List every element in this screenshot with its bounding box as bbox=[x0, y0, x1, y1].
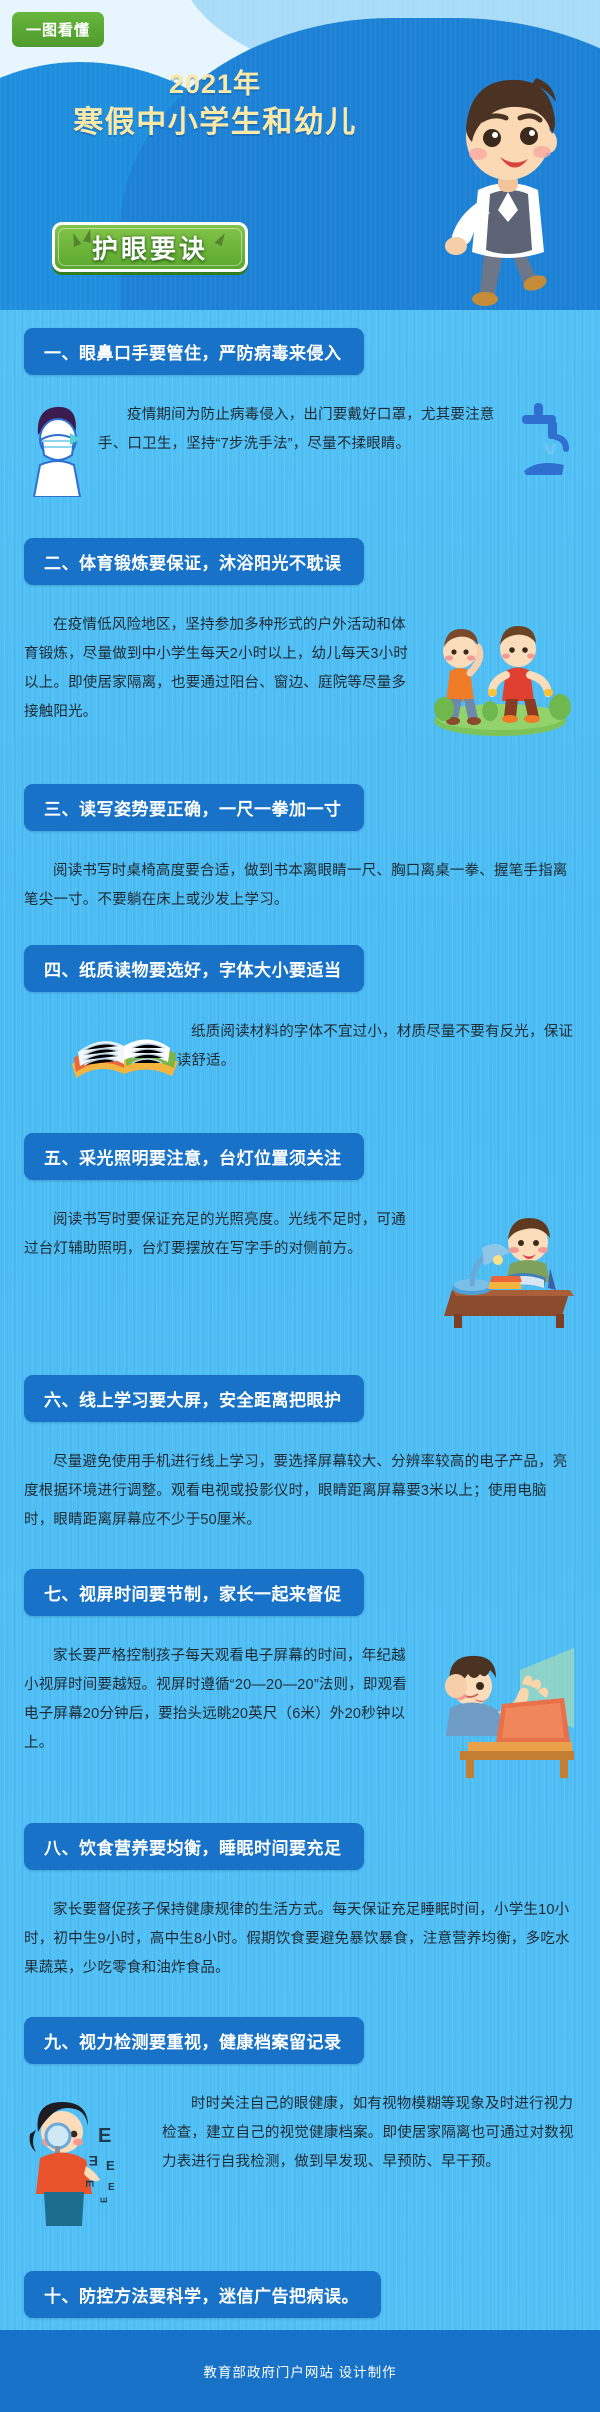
section-8-text: 家长要督促孩子保持健康规律的生活方式。每天保证充足睡眠时间，小学生10小时，初中… bbox=[24, 1896, 576, 1983]
plate-title-text: 护眼要诀 bbox=[92, 229, 208, 266]
section-6-text: 尽量避免使用手机进行线上学习，要选择屏幕较大、分辨率较高的电子产品，亮度根据环境… bbox=[24, 1448, 576, 1535]
section-5-text: 阅读书写时要保证充足的光照亮度。光线不足时，可通过台灯辅助照明，台灯要摆放在写字… bbox=[24, 1206, 414, 1264]
plate-title-badge: 护眼要诀 bbox=[52, 222, 248, 272]
section-9-body: E E E E E E 时时关注自己的眼健康，如有视物模糊等现象及时进行视力检查… bbox=[24, 2090, 576, 2237]
title-year: 2021年 bbox=[0, 66, 430, 102]
section-6-body: 尽量避免使用手机进行线上学习，要选择屏幕较大、分辨率较高的电子产品，亮度根据环境… bbox=[24, 1448, 576, 1535]
section-8-heading: 八、饮食营养要均衡，睡眠时间要充足 bbox=[24, 1823, 364, 1870]
section-7-text: 家长要严格控制孩子每天观看电子屏幕的时间，年纪越小视屏时间要越短。视屏时遵循“2… bbox=[24, 1642, 414, 1758]
svg-text:E: E bbox=[108, 2182, 115, 2193]
section-1: 一、眼鼻口手要管住，严防病毒来侵入 疫情期间为防止病毒侵入，出门要戴好口罩，尤其… bbox=[0, 310, 600, 508]
section-8: 八、饮食营养要均衡，睡眠时间要充足 家长要督促孩子保持健康规律的生活方式。每天保… bbox=[0, 1789, 600, 1983]
poster-content: 一、眼鼻口手要管住，严防病毒来侵入 疫情期间为防止病毒侵入，出门要戴好口罩，尤其… bbox=[0, 310, 600, 2412]
faucet-handwash-icon bbox=[516, 401, 576, 492]
section-9: 九、视力检测要重视，健康档案留记录 bbox=[0, 1983, 600, 2237]
eye-chart-test-icon: E E E E E E bbox=[24, 2090, 152, 2237]
section-2-text: 在疫情低风险地区，坚持参加多种形式的户外活动和体育锻炼，尽量做到中小学生每天2小… bbox=[24, 611, 416, 727]
section-2-body: 在疫情低风险地区，坚持参加多种形式的户外活动和体育锻炼，尽量做到中小学生每天2小… bbox=[24, 611, 576, 750]
section-9-heading: 九、视力检测要重视，健康档案留记录 bbox=[24, 2017, 364, 2064]
section-9-text: 时时关注自己的眼健康，如有视物模糊等现象及时进行视力检查，建立自己的视觉健康档案… bbox=[162, 2090, 576, 2177]
svg-text:E: E bbox=[83, 2180, 95, 2188]
footer-credit: 教育部政府门户网站 设计制作 bbox=[203, 2361, 396, 2381]
section-4: 四、纸质读物要选好，字体大小要适当 bbox=[0, 915, 600, 1099]
title-block: 2021年 寒假中小学生和幼儿 bbox=[0, 66, 430, 144]
section-1-heading: 一、眼鼻口手要管住，严防病毒来侵入 bbox=[24, 328, 364, 375]
section-3-heading: 三、读写姿势要正确，一尺一拳加一寸 bbox=[24, 784, 364, 831]
tired-eyes-laptop-icon bbox=[424, 1642, 576, 1789]
section-4-text: 纸质阅读材料的字体不宜过小，材质尽量不要有反光，保证阅读舒适。 bbox=[162, 1018, 576, 1076]
section-7-body: 家长要严格控制孩子每天观看电子屏幕的时间，年纪越小视屏时间要越短。视屏时遵循“2… bbox=[24, 1642, 576, 1789]
open-book-icon bbox=[24, 1018, 152, 1099]
section-1-text: 疫情期间为防止病毒侵入，出门要戴好口罩，尤其要注意手、口卫生，坚持“7步洗手法”… bbox=[98, 401, 506, 459]
masked-person-icon bbox=[24, 401, 88, 508]
section-4-body: 纸质阅读材料的字体不宜过小，材质尽量不要有反光，保证阅读舒适。 bbox=[24, 1018, 576, 1099]
section-5-heading: 五、采光照明要注意，台灯位置须关注 bbox=[24, 1133, 364, 1180]
section-3-text: 阅读书写时桌椅高度要合适，做到书本离眼睛一尺、胸口离桌一拳、握笔手指离笔尖一寸。… bbox=[24, 857, 576, 915]
section-2-heading: 二、体育锻炼要保证，沐浴阳光不耽误 bbox=[24, 538, 364, 585]
section-6: 六、线上学习要大屏，安全距离把眼护 尽量避免使用手机进行线上学习，要选择屏幕较大… bbox=[0, 1341, 600, 1535]
section-7-heading: 七、视屏时间要节制，家长一起来督促 bbox=[24, 1569, 364, 1616]
poster-header: 一图看懂 2021年 寒假中小学生和幼儿 护眼要诀 bbox=[0, 0, 600, 310]
svg-text:E: E bbox=[99, 2197, 109, 2203]
section-2: 二、体育锻炼要保证，沐浴阳光不耽误 在疫情低风险地区，坚持参加多种形式的户外活动… bbox=[0, 508, 600, 750]
page-title: 寒假中小学生和幼儿 bbox=[0, 102, 430, 144]
section-8-body: 家长要督促孩子保持健康规律的生活方式。每天保证充足睡眠时间，小学生10小时，初中… bbox=[24, 1896, 576, 1983]
desk-lamp-reading-icon bbox=[424, 1206, 576, 1341]
section-3: 三、读写姿势要正确，一尺一拳加一寸 阅读书写时桌椅高度要合适，做到书本离眼睛一尺… bbox=[0, 750, 600, 915]
section-10-heading: 十、防控方法要科学，迷信广告把病误。 bbox=[24, 2271, 381, 2318]
section-5-body: 阅读书写时要保证充足的光照亮度。光线不足时，可通过台灯辅助照明，台灯要摆放在写字… bbox=[24, 1206, 576, 1341]
infographic-poster: 一图看懂 2021年 寒假中小学生和幼儿 护眼要诀 bbox=[0, 0, 600, 2412]
section-1-body: 疫情期间为防止病毒侵入，出门要戴好口罩，尤其要注意手、口卫生，坚持“7步洗手法”… bbox=[24, 401, 576, 508]
section-7: 七、视屏时间要节制，家长一起来督促 家长要严格控制孩子每天观看电子屏幕的时间，年… bbox=[0, 1535, 600, 1789]
sparkle-icon bbox=[69, 232, 82, 247]
sparkle-icon bbox=[215, 231, 228, 246]
tag-badge: 一图看懂 bbox=[12, 12, 104, 47]
boy-pointing-icon bbox=[432, 62, 582, 310]
section-3-body: 阅读书写时桌椅高度要合适，做到书本离眼睛一尺、胸口离桌一拳、握笔手指离笔尖一寸。… bbox=[24, 857, 576, 915]
svg-text:E: E bbox=[88, 2153, 98, 2169]
svg-text:E: E bbox=[106, 2158, 115, 2173]
section-6-heading: 六、线上学习要大屏，安全距离把眼护 bbox=[24, 1375, 364, 1422]
two-kids-exercising-icon bbox=[426, 611, 576, 750]
section-5: 五、采光照明要注意，台灯位置须关注 阅读书写时要保证充足的光照亮度。光线不足时，… bbox=[0, 1099, 600, 1341]
poster-footer: 教育部政府门户网站 设计制作 bbox=[0, 2330, 600, 2412]
svg-text:E: E bbox=[98, 2125, 112, 2147]
section-4-heading: 四、纸质读物要选好，字体大小要适当 bbox=[24, 945, 364, 992]
